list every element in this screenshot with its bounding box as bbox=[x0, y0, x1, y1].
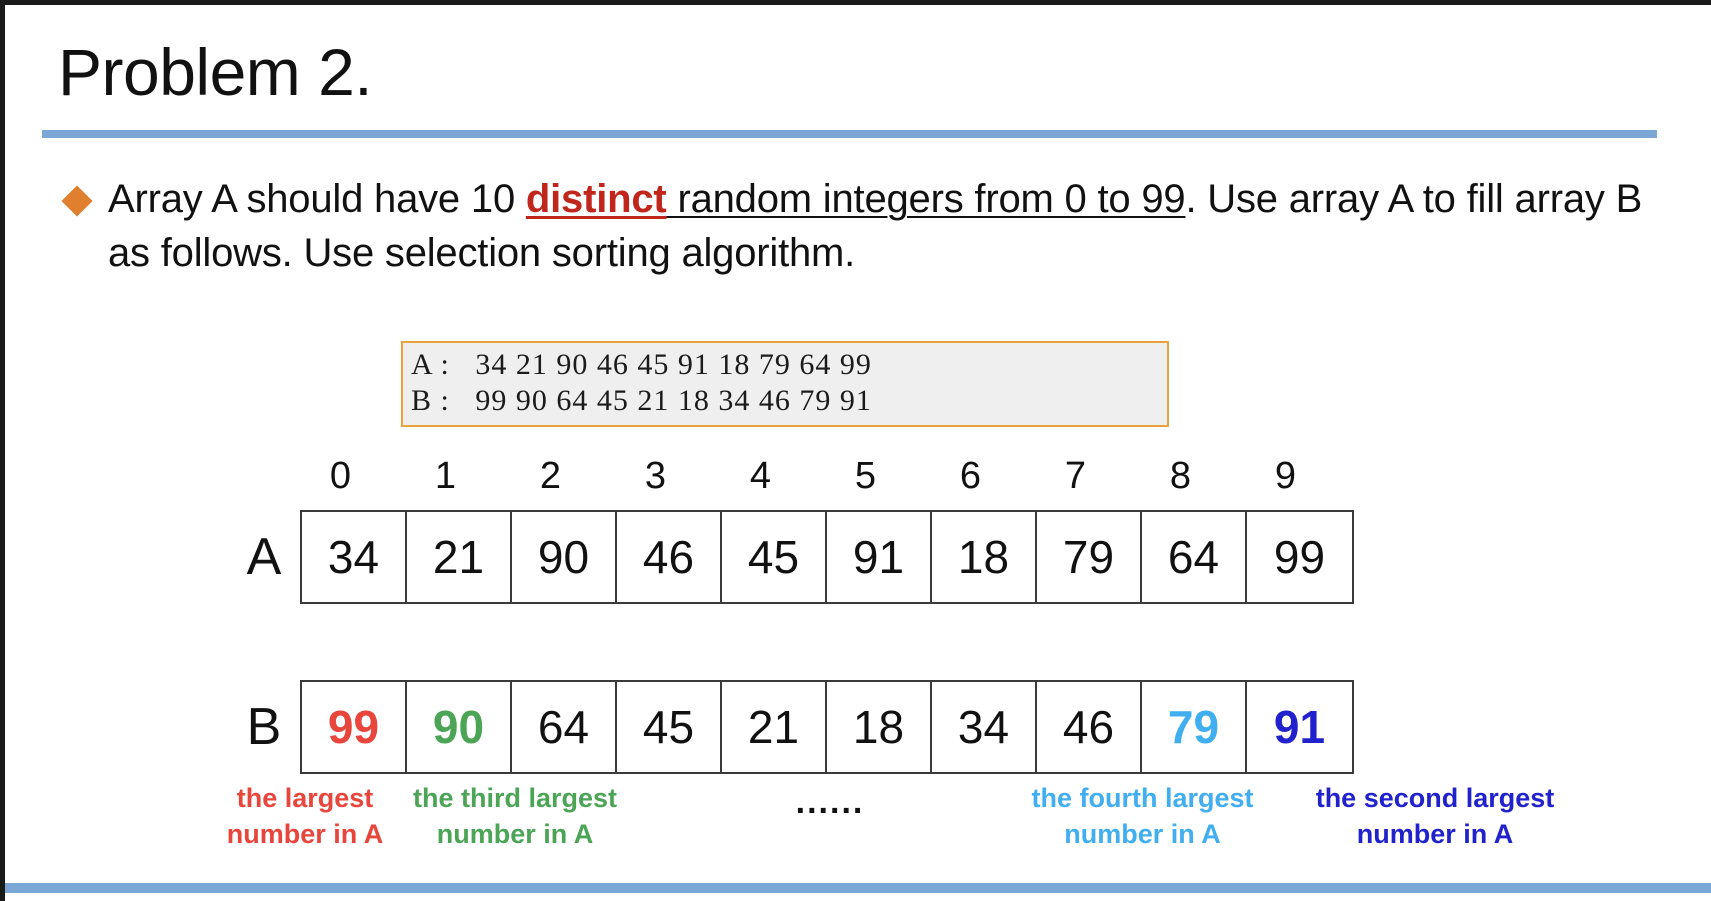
bullet-text-part2: random integers from 0 to 99 bbox=[667, 177, 1186, 221]
caption-third-line1: the third largest bbox=[400, 780, 630, 816]
array-b-cells: 99 90 64 45 21 18 34 46 79 91 bbox=[300, 680, 1354, 774]
array-a-cell-3: 46 bbox=[617, 512, 722, 602]
array-a-row: A 34 21 90 46 45 91 18 79 64 99 bbox=[240, 510, 1354, 604]
index-label-3: 3 bbox=[603, 455, 708, 498]
array-b-cell-2: 64 bbox=[512, 682, 617, 772]
array-a-cell-6: 18 bbox=[932, 512, 1037, 602]
caption-fourth-line1: the fourth largest bbox=[1010, 780, 1275, 816]
index-label-9: 9 bbox=[1233, 455, 1338, 498]
array-b-cell-6: 34 bbox=[932, 682, 1037, 772]
array-b-cell-3: 45 bbox=[617, 682, 722, 772]
array-a-cell-5: 91 bbox=[827, 512, 932, 602]
array-a-cell-2: 90 bbox=[512, 512, 617, 602]
index-label-7: 7 bbox=[1023, 455, 1128, 498]
array-b-row: B 99 90 64 45 21 18 34 46 79 91 bbox=[240, 680, 1354, 774]
diamond-bullet-icon bbox=[61, 185, 92, 216]
console-line-b: B : 99 90 64 45 21 18 34 46 79 91 bbox=[411, 383, 1157, 419]
index-label-4: 4 bbox=[708, 455, 813, 498]
array-a-cell-9: 99 bbox=[1247, 512, 1352, 602]
bullet-block: Array A should have 10 distinct random i… bbox=[66, 172, 1666, 280]
slide-left-border bbox=[0, 0, 5, 901]
caption-fourth-largest: the fourth largest number in A bbox=[1010, 780, 1275, 853]
index-label-6: 6 bbox=[918, 455, 1023, 498]
console-line-a: A : 34 21 90 46 45 91 18 79 64 99 bbox=[411, 347, 1157, 383]
caption-ellipsis: ...... bbox=[740, 780, 920, 826]
title-divider bbox=[42, 130, 1657, 138]
caption-second-line1: the second largest bbox=[1290, 780, 1580, 816]
array-b-cell-9: 91 bbox=[1247, 682, 1352, 772]
caption-third-line2: number in A bbox=[400, 816, 630, 852]
slide-canvas: Problem 2. Array A should have 10 distin… bbox=[0, 0, 1711, 901]
array-a-cell-4: 45 bbox=[722, 512, 827, 602]
console-output-box: A : 34 21 90 46 45 91 18 79 64 99 B : 99… bbox=[401, 341, 1169, 427]
bullet-row: Array A should have 10 distinct random i… bbox=[66, 172, 1666, 280]
caption-largest: the largest number in A bbox=[200, 780, 410, 853]
bullet-text-part1: Array A should have 10 bbox=[108, 177, 526, 221]
array-a-label: A bbox=[240, 510, 288, 604]
index-label-8: 8 bbox=[1128, 455, 1233, 498]
caption-second-line2: number in A bbox=[1290, 816, 1580, 852]
slide-top-border bbox=[0, 0, 1711, 5]
array-b-captions: the largest number in A the third larges… bbox=[200, 780, 1620, 870]
caption-ellipsis-text: ...... bbox=[740, 780, 920, 826]
page-title: Problem 2. bbox=[58, 38, 372, 107]
index-label-5: 5 bbox=[813, 455, 918, 498]
caption-fourth-line2: number in A bbox=[1010, 816, 1275, 852]
array-b-label: B bbox=[240, 680, 288, 774]
array-a-cell-8: 64 bbox=[1142, 512, 1247, 602]
slide-bottom-accent-bar bbox=[5, 883, 1711, 893]
index-label-2: 2 bbox=[498, 455, 603, 498]
index-label-1: 1 bbox=[393, 455, 498, 498]
array-a-cell-7: 79 bbox=[1037, 512, 1142, 602]
index-label-0: 0 bbox=[288, 455, 393, 498]
array-b-cell-4: 21 bbox=[722, 682, 827, 772]
bullet-emphasis-distinct: distinct bbox=[526, 177, 667, 221]
caption-largest-line2: number in A bbox=[200, 816, 410, 852]
array-b-cell-8: 79 bbox=[1142, 682, 1247, 772]
bullet-text: Array A should have 10 distinct random i… bbox=[108, 172, 1666, 280]
array-index-header: 0 1 2 3 4 5 6 7 8 9 bbox=[288, 455, 1338, 498]
array-a-cells: 34 21 90 46 45 91 18 79 64 99 bbox=[300, 510, 1354, 604]
caption-largest-line1: the largest bbox=[200, 780, 410, 816]
array-a-cell-1: 21 bbox=[407, 512, 512, 602]
array-a-cell-0: 34 bbox=[302, 512, 407, 602]
array-b-cell-0: 99 bbox=[302, 682, 407, 772]
caption-second-largest: the second largest number in A bbox=[1290, 780, 1580, 853]
array-b-cell-7: 46 bbox=[1037, 682, 1142, 772]
caption-third-largest: the third largest number in A bbox=[400, 780, 630, 853]
array-b-cell-5: 18 bbox=[827, 682, 932, 772]
array-b-cell-1: 90 bbox=[407, 682, 512, 772]
